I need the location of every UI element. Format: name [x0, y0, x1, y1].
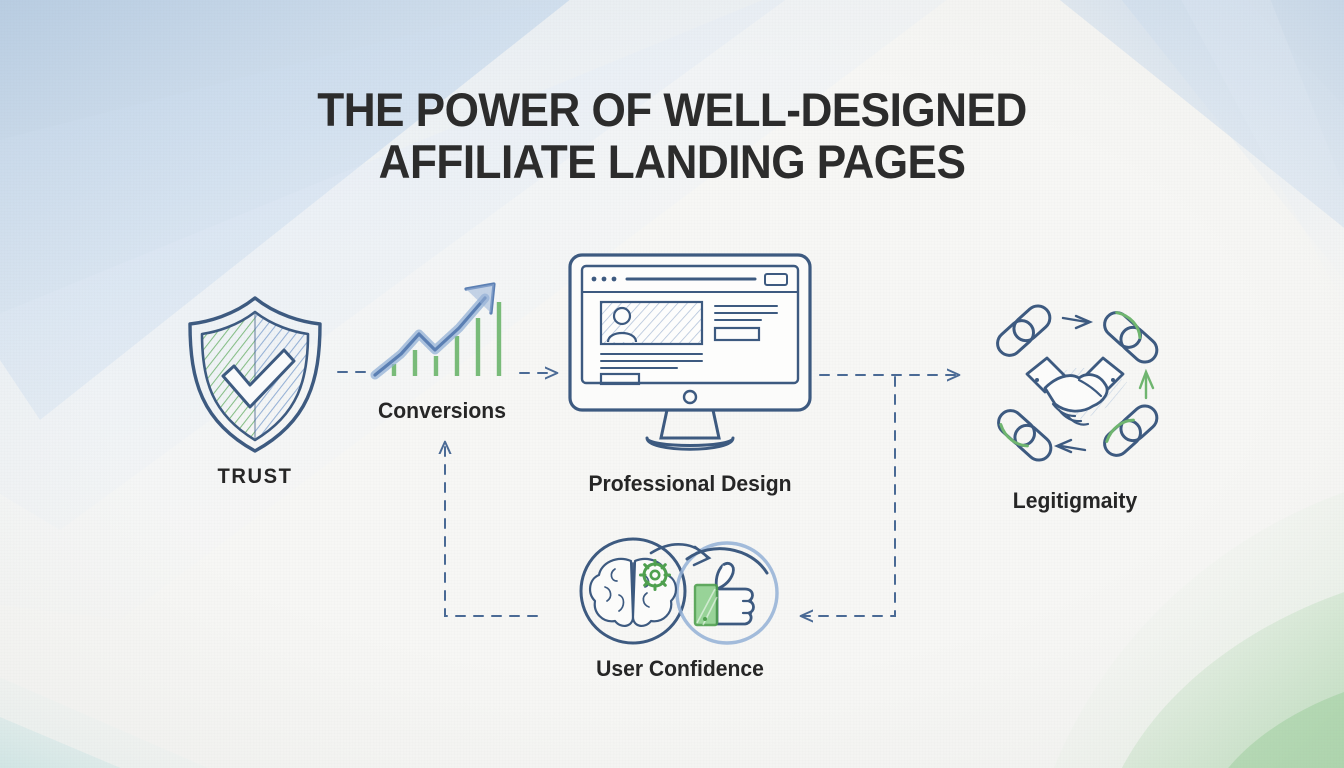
node-professional-design[interactable]: Professional Design [555, 250, 825, 497]
page-title: THE POWER OF WELL-DESIGNED AFFILIATE LAN… [0, 84, 1344, 188]
handshake-chain-links-icon [975, 292, 1175, 482]
node-user-confidence[interactable]: User Confidence [545, 535, 815, 682]
brain-thumbs-up-icon [555, 535, 805, 650]
growth-chart-arrow-icon [367, 272, 517, 392]
shield-check-icon [180, 288, 330, 458]
title-line-2: AFFILIATE LANDING PAGES [40, 136, 1303, 188]
node-legitimacy-label: Legitigmaity [969, 488, 1180, 514]
node-trust[interactable]: TRUST [150, 288, 360, 490]
node-user-confidence-label: User Confidence [550, 656, 809, 682]
title-line-1: THE POWER OF WELL-DESIGNED [40, 84, 1303, 136]
node-conversions-label: Conversions [356, 398, 529, 424]
node-professional-design-label: Professional Design [560, 471, 819, 497]
node-conversions[interactable]: Conversions [352, 272, 532, 424]
node-trust-label: TRUST [154, 464, 356, 490]
infographic-canvas: THE POWER OF WELL-DESIGNED AFFILIATE LAN… [0, 0, 1344, 768]
node-legitimacy[interactable]: Legitigmaity [965, 292, 1185, 514]
desktop-monitor-icon [565, 250, 815, 465]
